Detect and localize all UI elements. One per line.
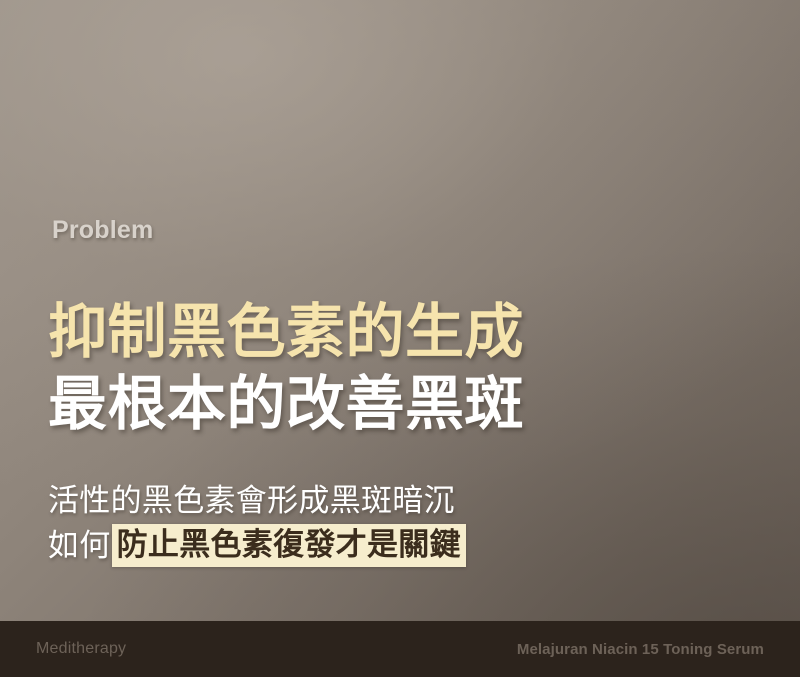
footer-brand-name: Meditherapy — [36, 640, 126, 658]
subtitle-highlight: 防止黑色素復發才是關鍵 — [112, 524, 466, 567]
headline-block: 抑制黑色素的生成 最根本的改善黑斑 — [48, 296, 748, 440]
subtitle-line-2: 如何 防止黑色素復發才是關鍵 — [48, 523, 748, 568]
headline-line-2: 最根本的改善黑斑 — [48, 368, 748, 440]
slide-footer: Meditherapy Melajuran Niacin 15 Toning S… — [0, 621, 800, 677]
footer-product-name: Melajuran Niacin 15 Toning Serum — [517, 641, 764, 658]
subtitle-line-1: 活性的黑色素會形成黑斑暗沉 — [48, 478, 748, 523]
section-label: Problem — [52, 216, 153, 245]
headline-line-1: 抑制黑色素的生成 — [48, 296, 748, 368]
slide-content: Problem 抑制黑色素的生成 最根本的改善黑斑 活性的黑色素會形成黑斑暗沉 … — [0, 0, 800, 677]
subtitle-prefix: 如何 — [48, 523, 112, 568]
presentation-slide: Problem 抑制黑色素的生成 最根本的改善黑斑 活性的黑色素會形成黑斑暗沉 … — [0, 0, 800, 677]
subtitle-block: 活性的黑色素會形成黑斑暗沉 如何 防止黑色素復發才是關鍵 — [48, 478, 748, 568]
